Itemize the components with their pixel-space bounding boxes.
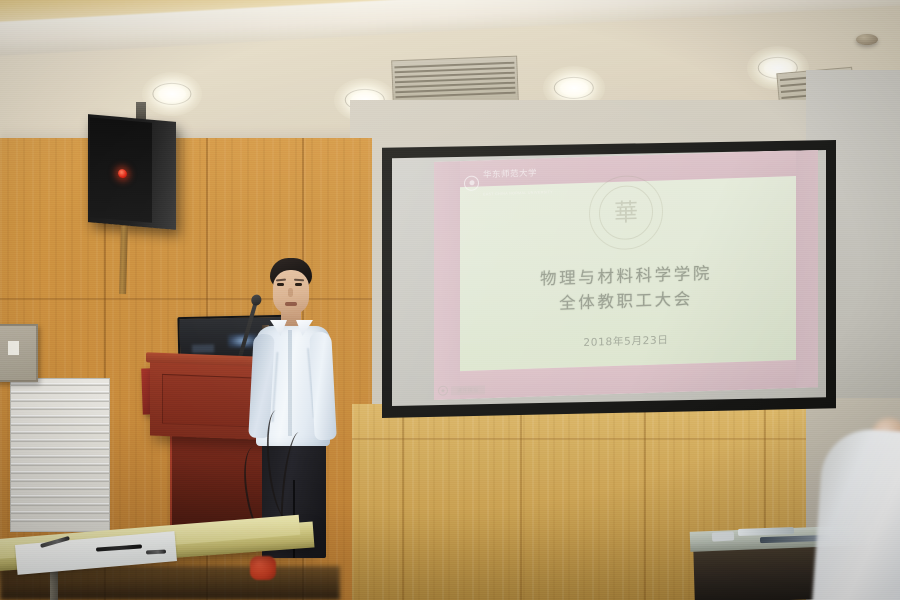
- university-name-en: EAST CHINA NORMAL UNIVERSITY: [483, 190, 553, 196]
- university-logo: 华东师范大学 EAST CHINA NORMAL UNIVERSITY: [464, 162, 553, 201]
- smoke-detector-icon: [856, 34, 878, 45]
- hvac-vent: [391, 56, 519, 107]
- university-logo-mark-icon: [464, 175, 479, 190]
- presentation-slide: 华东师范大学 EAST CHINA NORMAL UNIVERSITY 華 物理…: [434, 150, 818, 400]
- wall-loudspeaker: [88, 114, 176, 230]
- wall-vent-louver: [10, 378, 110, 532]
- presenter-eye: [277, 283, 284, 286]
- wall-utility-box[interactable]: [0, 324, 38, 382]
- university-name-cn: 华东师范大学: [483, 169, 537, 181]
- presenter-mouth: [285, 302, 297, 306]
- presenter-eye: [295, 283, 302, 286]
- presenter-right-arm: [309, 331, 337, 440]
- foreground-red-object: [250, 556, 276, 580]
- slide-watermark: 课件模板: [438, 384, 485, 396]
- side-table-item[interactable]: [712, 531, 734, 541]
- downlight-icon: [142, 72, 202, 116]
- speaker-power-led-icon: [118, 169, 127, 179]
- seal-glyph: 華: [614, 200, 638, 225]
- projection-screen[interactable]: 华东师范大学 EAST CHINA NORMAL UNIVERSITY 華 物理…: [382, 140, 836, 418]
- screen-surface: 华东师范大学 EAST CHINA NORMAL UNIVERSITY 華 物理…: [392, 150, 826, 406]
- lecture-hall-photo: 华东师范大学 EAST CHINA NORMAL UNIVERSITY 華 物理…: [0, 0, 900, 600]
- watermark-label: 课件模板: [451, 385, 485, 395]
- monitor-screen-glow: [192, 344, 214, 352]
- watermark-dot-icon: [438, 386, 448, 396]
